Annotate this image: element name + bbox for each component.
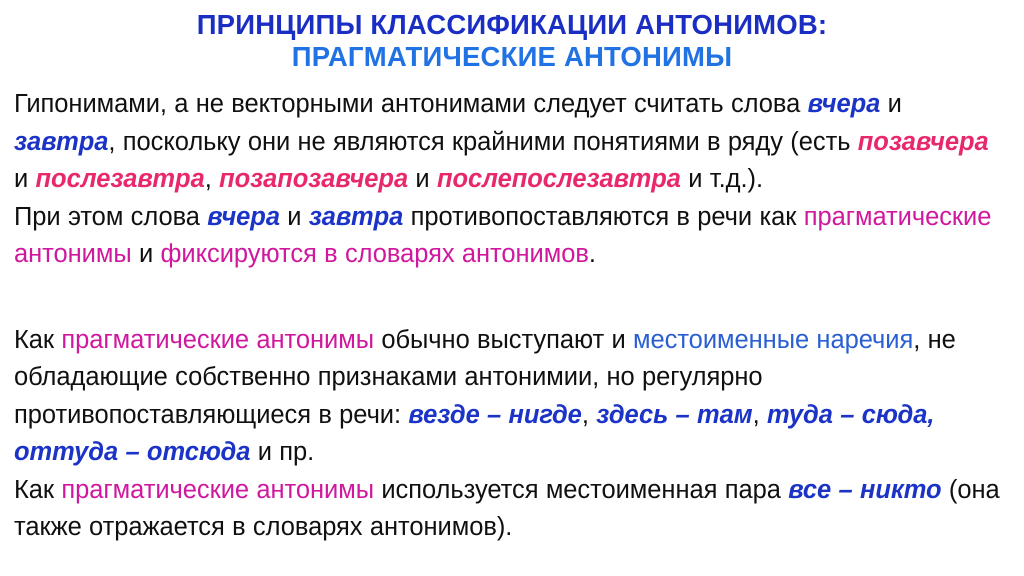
p1-text-2: и	[880, 90, 902, 118]
pair-vse-nikto: все – никто	[788, 476, 941, 504]
term-pozavchera: позавчера	[858, 128, 989, 156]
title-line-1: ПРИНЦИПЫ КЛАССИФИКАЦИИ АНТОНИМОВ:	[0, 9, 1024, 41]
term-poslezavtra: послезавтра	[36, 165, 205, 193]
term-pragmatic-antonyms-3: прагматические антонимы	[61, 476, 374, 504]
p4-text-2: используется местоименная пара	[374, 476, 788, 504]
term-vchera-2: вчера	[207, 203, 280, 231]
p4-text-1: Как	[14, 476, 61, 504]
pair-zdes-tam: здесь – там	[596, 401, 752, 429]
p2-text-3: противопоставляются в речи как	[403, 203, 803, 231]
p1-text-1: Гипонимами, а не векторными антонимами с…	[14, 90, 808, 118]
p3-text-1: Как	[14, 326, 61, 354]
paragraph-vse-nikto: Как прагматические антонимы используется…	[14, 472, 1010, 547]
p3-text-5: ,	[753, 401, 767, 429]
p2-text-5: .	[589, 240, 596, 268]
p1-text-7: и т.д.).	[681, 165, 763, 193]
slide-body: Гипонимами, а не векторными антонимами с…	[14, 86, 1010, 547]
paragraph-pronominal-adverbs: Как прагматические антонимы обычно высту…	[14, 322, 1010, 472]
title-line-2: ПРАГМАТИЧЕСКИЕ АНТОНИМЫ	[0, 41, 1024, 73]
p2-text-1: При этом слова	[14, 203, 207, 231]
p2-text-4: и	[132, 240, 161, 268]
term-poslepoleslezavtra: послепослезавтра	[437, 165, 681, 193]
p3-text-2: обычно выступают и	[374, 326, 633, 354]
paragraph-gap	[14, 274, 1010, 322]
p1-text-4: и	[14, 165, 36, 193]
p2-text-2: и	[280, 203, 309, 231]
p1-text-5: ,	[205, 165, 219, 193]
paragraph-hyponyms: Гипонимами, а не векторными антонимами с…	[14, 86, 1010, 199]
slide-root: ПРИНЦИПЫ КЛАССИФИКАЦИИ АНТОНИМОВ: ПРАГМА…	[0, 0, 1024, 576]
term-pronominal-adverbs: местоименные наречия	[633, 326, 913, 354]
term-pozapozavchera: позапозавчера	[219, 165, 408, 193]
slide-title: ПРИНЦИПЫ КЛАССИФИКАЦИИ АНТОНИМОВ: ПРАГМА…	[0, 0, 1024, 73]
term-fixed-in-dictionaries: фиксируются в словарях антонимов	[161, 240, 589, 268]
p1-text-3: , поскольку они не являются крайними пон…	[108, 128, 857, 156]
paragraph-pragmatic-opposition: При этом слова вчера и завтра противопос…	[14, 199, 1010, 274]
p1-text-6: и	[408, 165, 437, 193]
pair-vezde-nigde: везде – нигде	[408, 401, 581, 429]
p3-text-6: и пр.	[250, 438, 314, 466]
p3-text-4: ,	[582, 401, 596, 429]
term-zavtra-2: завтра	[309, 203, 403, 231]
term-zavtra-1: завтра	[14, 128, 108, 156]
term-vchera-1: вчера	[808, 90, 881, 118]
term-pragmatic-antonyms-2: прагматические антонимы	[61, 326, 374, 354]
